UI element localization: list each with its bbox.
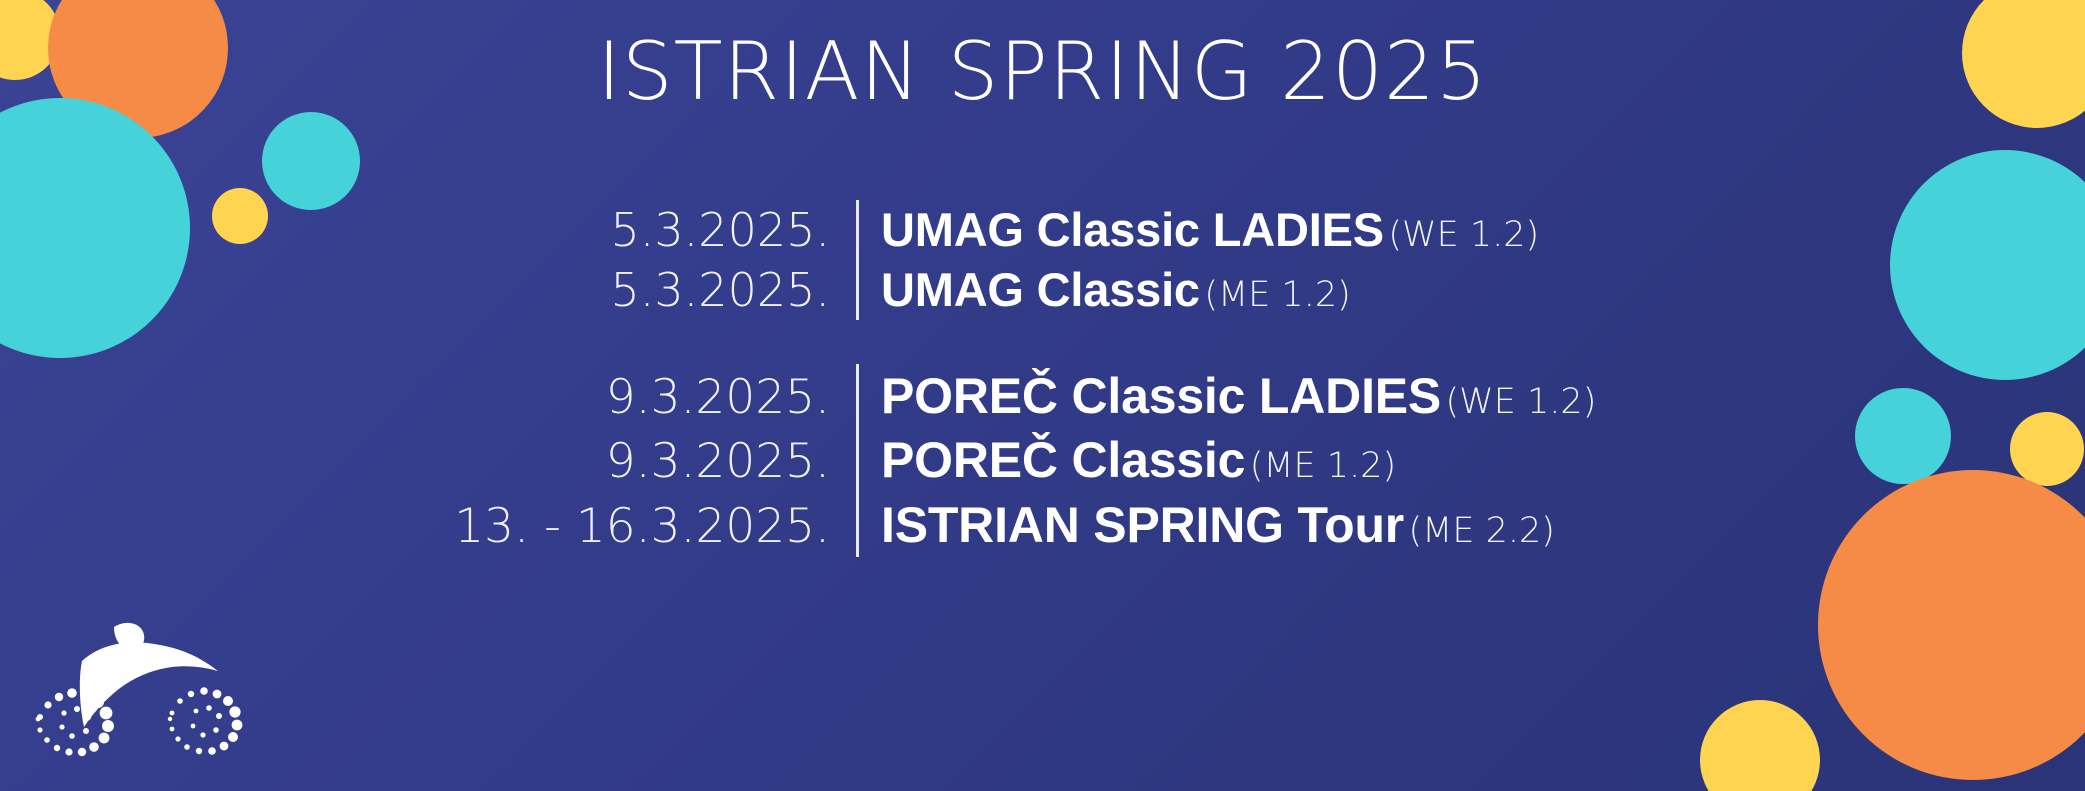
group-porec: 9.3.2025.POREČ Classic LADIES (WE 1.2)9.… [0,364,2085,556]
race-category: (WE 1.2) [1446,382,1597,422]
race-name: POREČ Classic [881,432,1245,488]
circle-cyan-small-top [262,112,360,210]
race-entry: UMAG Classic (ME 1.2) [859,260,1351,320]
race-category: (ME 1.2) [1204,275,1350,315]
group-umag: 5.3.2025.UMAG Classic LADIES (WE 1.2)5.3… [0,200,2085,320]
race-entry: POREČ Classic (ME 1.2) [859,428,1396,492]
page-title: ISTRIAN SPRING 2025 [0,32,2085,112]
race-date: 13. - 16.3.2025. [0,497,856,557]
race-date: 5.3.2025. [0,201,856,260]
wheel-left-dots [36,688,114,756]
race-category: (ME 1.2) [1250,446,1396,486]
schedule-row[interactable]: 9.3.2025.POREČ Classic (ME 1.2) [0,428,2085,492]
race-name: ISTRIAN SPRING Tour [881,497,1404,553]
race-category: (ME 2.2) [1409,511,1555,551]
race-name: POREČ Classic LADIES [881,368,1441,424]
race-entry: ISTRIAN SPRING Tour (ME 2.2) [859,493,1555,557]
cyclist-logo [22,609,292,769]
group-spacer [0,320,2085,364]
race-name: UMAG Classic [881,263,1200,316]
schedule-row[interactable]: 5.3.2025.UMAG Classic LADIES (WE 1.2) [0,200,2085,260]
poster-banner: ISTRIAN SPRING 2025 5.3.2025.UMAG Classi… [0,0,2085,791]
schedule-row[interactable]: 13. - 16.3.2025.ISTRIAN SPRING Tour (ME … [0,493,2085,557]
circle-yellow-bottom [1700,700,1820,791]
race-name: UMAG Classic LADIES [881,203,1384,256]
race-category: (WE 1.2) [1388,215,1539,255]
race-schedule: 5.3.2025.UMAG Classic LADIES (WE 1.2)5.3… [0,200,2085,557]
race-date: 9.3.2025. [0,368,856,428]
race-date: 5.3.2025. [0,261,856,320]
race-date: 9.3.2025. [0,432,856,492]
race-entry: POREČ Classic LADIES (WE 1.2) [859,364,1596,428]
wheel-right-dots [168,687,243,755]
race-entry: UMAG Classic LADIES (WE 1.2) [859,200,1539,260]
schedule-row[interactable]: 5.3.2025.UMAG Classic (ME 1.2) [0,260,2085,320]
schedule-row[interactable]: 9.3.2025.POREČ Classic LADIES (WE 1.2) [0,364,2085,428]
